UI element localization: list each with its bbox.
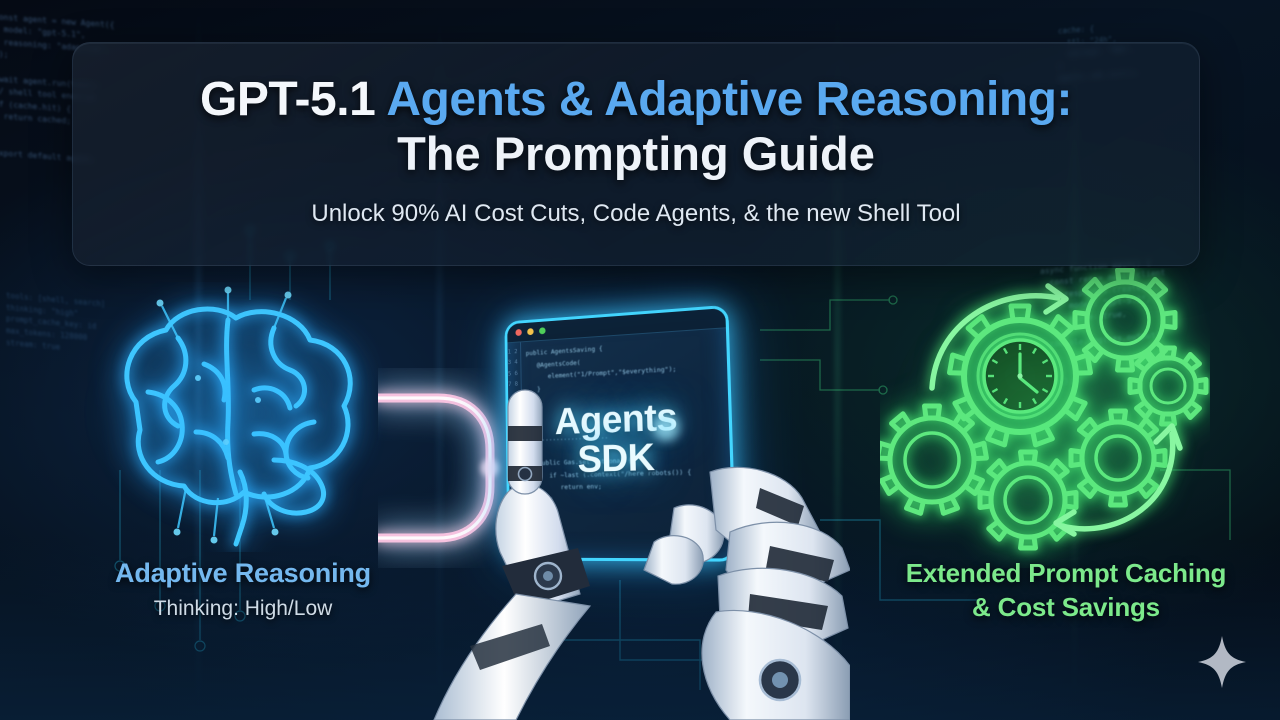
robot-hand-right: [644, 415, 850, 720]
title-model-name: GPT-5.1: [200, 73, 386, 126]
gears-glow: [890, 278, 1200, 558]
brain-graphic: [78, 282, 388, 552]
title-highlight: Agents & Adaptive Reasoning:: [386, 73, 1072, 126]
caption-right: Extended Prompt Caching & Cost Savings: [905, 556, 1227, 625]
robot-hand-left: [434, 390, 590, 720]
brain-glow: [88, 292, 378, 532]
caption-left-sub: Thinking: High/Low: [48, 597, 438, 621]
minimize-dot-icon[interactable]: [527, 328, 533, 335]
maximize-dot-icon[interactable]: [539, 327, 546, 334]
robot-hands-graphic: [430, 380, 850, 720]
sparkle-star-icon: [1196, 634, 1248, 690]
page-title-line1: GPT-5.1 Agents & Adaptive Reasoning:: [73, 75, 1199, 125]
hero-panel: GPT-5.1 Agents & Adaptive Reasoning: The…: [72, 42, 1200, 266]
promo-banner: const agent = new Agent({ model: "gpt-5.…: [0, 0, 1280, 720]
page-title-line2: The Prompting Guide: [73, 129, 1199, 180]
caption-right-heading: Extended Prompt Caching & Cost Savings: [905, 556, 1227, 625]
caption-left: Adaptive Reasoning Thinking: High/Low: [48, 558, 438, 621]
close-dot-icon[interactable]: [515, 329, 521, 336]
caption-left-heading: Adaptive Reasoning: [48, 558, 438, 589]
gears-graphic: [880, 268, 1210, 568]
page-subtitle: Unlock 90% AI Cost Cuts, Code Agents, & …: [73, 200, 1199, 228]
